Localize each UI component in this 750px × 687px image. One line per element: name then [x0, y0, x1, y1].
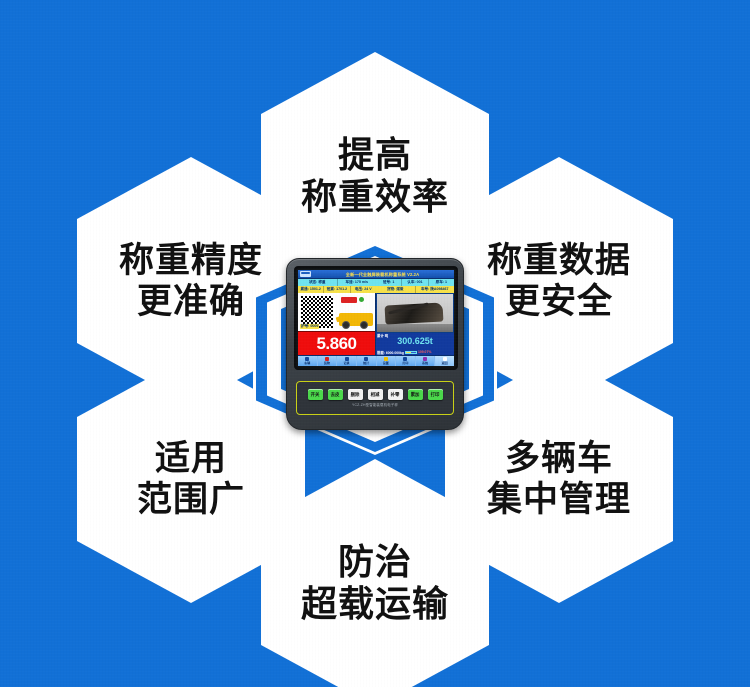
weighing-terminal-device[interactable]: 全新一代全触屏装载机称重系统 V2.2A 状态: 称重 车速: 175 m/s …	[286, 258, 464, 430]
loader-badge-red	[341, 297, 357, 303]
feature-hex-left-bottom-line2: 范围广	[137, 479, 245, 520]
key-delete[interactable]: 删除	[348, 389, 363, 400]
poster-stage: 提高 称重效率 称重精度 更准确 称重数据 更安全 适用 范围广 多辆车 集中管…	[0, 0, 750, 687]
toolbar-button-system[interactable]: 系统	[416, 356, 436, 366]
toolbar-button-settings[interactable]: 设置	[377, 356, 397, 366]
key-tare[interactable]: 去皮	[328, 389, 343, 400]
info-vehicle-id: 认车: 001	[402, 279, 428, 286]
feature-hex-bottom-line1: 防治	[338, 541, 412, 583]
info-shift: 班号: 1	[376, 279, 402, 286]
key-print[interactable]: 打印	[428, 389, 443, 400]
load-limit-label: 限载: 6000.000kg	[377, 350, 404, 355]
toolbar-button-stats[interactable]: 统计	[357, 356, 377, 366]
screen-left-panel: 护号: 0009 5.860	[298, 293, 376, 355]
info-row-right-1: 班号: 1 认车: 001 原车: 1	[376, 279, 454, 286]
device-keypad[interactable]: 开关 去皮 删除 相减 补零 累加 打印 YCZ-ZH型智能装载机电子秤	[296, 381, 454, 415]
feature-hex-right-top-line1: 称重数据	[487, 240, 631, 281]
loader-wheel-front	[342, 321, 350, 329]
info-shift-total: 班累: 1701.2	[324, 286, 350, 293]
device-screen-bezel: 全新一代全触屏装载机称重系统 V2.2A 状态: 称重 车速: 175 m/s …	[294, 266, 458, 370]
feature-hex-left-bottom-line1: 适用	[155, 438, 227, 479]
key-subtract[interactable]: 相减	[368, 389, 383, 400]
loader-wheel-rear	[360, 321, 368, 329]
left-panel-tag: 护号: 0009	[300, 324, 319, 329]
toolbar-label-stats: 统计	[363, 362, 369, 365]
photo-ground-shape	[377, 324, 453, 332]
feature-hex-right-top-line2: 更安全	[505, 281, 613, 322]
key-accumulate[interactable]: 累加	[408, 389, 423, 400]
feature-hex-bottom-line2: 超载运输	[301, 583, 449, 625]
info-voltage: 电压: 24 V	[351, 286, 376, 293]
load-progress-bar	[405, 351, 417, 354]
feature-hex-top-line1: 提高	[338, 134, 412, 176]
toolbar-label-system: 系统	[422, 362, 428, 365]
info-state: 状态: 称重	[298, 279, 338, 286]
toolbar-label-back: 返回	[442, 362, 448, 365]
toolbar-button-back[interactable]: 返回	[435, 356, 454, 366]
feature-hex-left-top-line2: 更准确	[137, 281, 245, 322]
info-row-1: 状态: 称重 车速: 175 m/s 班号: 1 认车: 001 原车: 1	[298, 279, 454, 286]
current-weight-display: 5.860	[298, 331, 375, 355]
toolbar-button-vehicle[interactable]: 车辆	[298, 356, 318, 366]
feature-hex-left-top-line1: 称重精度	[119, 240, 263, 281]
accumulated-weight-display: 累计 吨 300.625t	[376, 333, 454, 349]
feature-hex-top-line2: 称重效率	[301, 176, 449, 218]
info-row-left-2: 累通: 1501.2 班累: 1701.2 电压: 24 V	[298, 286, 376, 293]
feature-hex-right-bottom-line2: 集中管理	[487, 479, 631, 520]
info-origin: 原车: 1	[429, 279, 454, 286]
device-screen[interactable]: 全新一代全触屏装载机称重系统 V2.2A 状态: 称重 车速: 175 m/s …	[298, 270, 454, 366]
accumulated-weight-value: 300.625t	[397, 336, 433, 346]
load-percent: 109.07%	[418, 350, 431, 354]
info-goods: 货物: 煤炭	[376, 286, 416, 293]
screen-title-bar: 全新一代全触屏装载机称重系统 V2.2A	[298, 270, 454, 279]
machinery-photo-icon	[377, 294, 453, 332]
toolbar-label-goods: 货物	[324, 362, 330, 365]
loader-badge-green	[359, 297, 364, 302]
toolbar-button-print[interactable]: 打印	[396, 356, 416, 366]
key-zero[interactable]: 补零	[388, 389, 403, 400]
toolbar-label-print: 打印	[402, 362, 408, 365]
accumulated-weight-label: 累计 吨	[377, 334, 388, 338]
toolbar-label-record: 记录	[344, 362, 350, 365]
device-brand-label: YCZ-ZH型智能装载机电子秤	[352, 402, 398, 407]
info-plate: 车号: 陕A098467	[416, 286, 455, 293]
screen-right-panel: 累计 吨 300.625t 限载: 6000.000kg 109.07%	[376, 293, 454, 355]
screen-body: 护号: 0009 5.860 累计 吨 300.625t	[298, 293, 454, 355]
toolbar-label-settings: 设置	[383, 362, 389, 365]
wheel-loader-icon	[335, 295, 373, 329]
info-total: 累通: 1501.2	[298, 286, 324, 293]
toolbar-label-vehicle: 车辆	[304, 362, 310, 365]
info-speed: 车速: 175 m/s	[338, 279, 377, 286]
company-logo-icon	[300, 271, 311, 277]
screen-title: 全新一代全触屏装载机称重系统 V2.2A	[313, 270, 452, 279]
info-row-2: 累通: 1501.2 班累: 1701.2 电压: 24 V 货物: 煤炭 车号…	[298, 286, 454, 293]
key-power[interactable]: 开关	[308, 389, 323, 400]
toolbar-button-record[interactable]: 记录	[337, 356, 357, 366]
toolbar-button-goods[interactable]: 货物	[318, 356, 338, 366]
keypad-button-row: 开关 去皮 删除 相减 补零 累加 打印	[308, 389, 443, 400]
info-row-left-1: 状态: 称重 车速: 175 m/s	[298, 279, 376, 286]
feature-hex-right-bottom-line1: 多辆车	[505, 438, 613, 479]
info-row-right-2: 货物: 煤炭 车号: 陕A098467	[376, 286, 454, 293]
screen-toolbar[interactable]: 车辆 货物 记录 统计	[298, 355, 454, 366]
